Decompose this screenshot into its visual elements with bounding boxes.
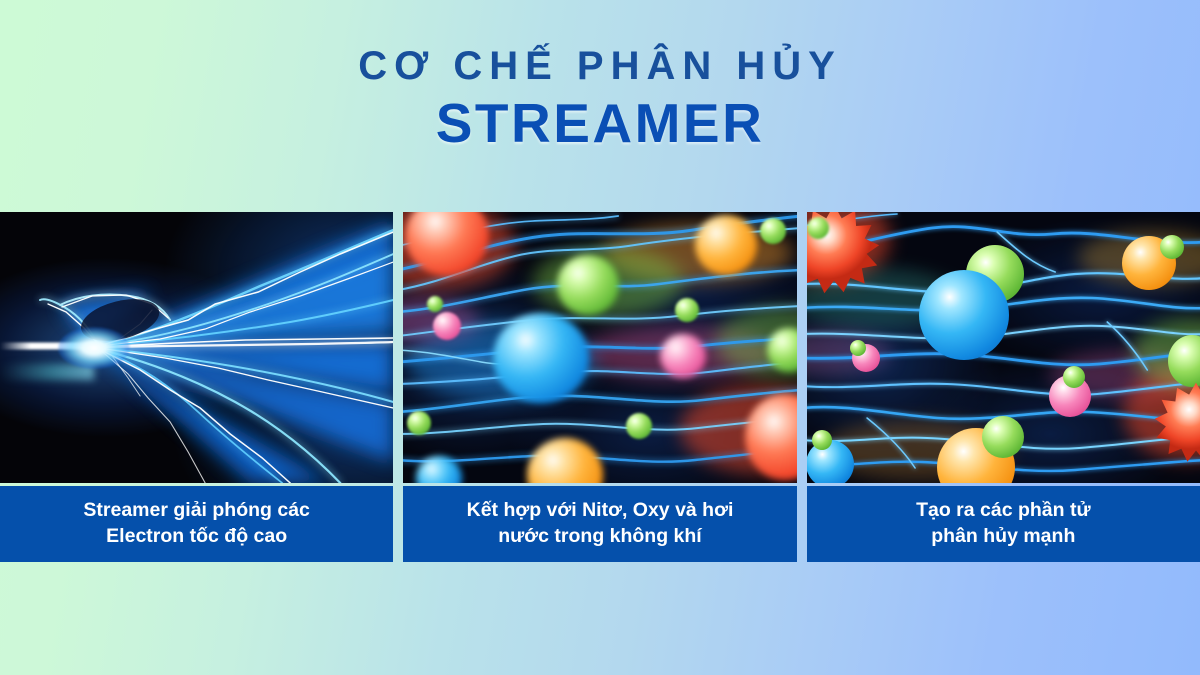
panel-2-image: [403, 212, 796, 483]
panel-1-caption-line-1: Streamer giải phóng các: [83, 498, 310, 524]
molecule-cyan-large: [919, 270, 1009, 360]
panel-2: Kết hợp với Nitơ, Oxy và hơi nước trong …: [403, 212, 796, 562]
molecule-cyan-bottom: [807, 440, 855, 483]
molecule-red-bottom: [745, 394, 797, 480]
molecule-cyan-large: [493, 313, 589, 403]
panel-3-caption-line-1: Tạo ra các phần tử: [916, 498, 1091, 524]
panel-1-caption: Streamer giải phóng các Electron tốc độ …: [0, 486, 393, 562]
panel-row: Streamer giải phóng các Electron tốc độ …: [0, 212, 1200, 562]
molecule-red: [405, 212, 489, 276]
title-block: CƠ CHẾ PHÂN HỦY STREAMER: [0, 44, 1200, 153]
panel-1-discharge-core: [58, 327, 130, 369]
molecule-green-small-2: [675, 298, 699, 322]
panel-1-image: [0, 212, 393, 483]
panel-2-caption-line-1: Kết hợp với Nitơ, Oxy và hơi: [467, 498, 734, 524]
molecule-green-tiny-4: [812, 430, 832, 450]
molecule-pink-small: [433, 312, 461, 340]
panel-3: Tạo ra các phần tử phân hủy mạnh: [807, 212, 1200, 562]
infographic-canvas: CƠ CHẾ PHÂN HỦY STREAMER: [0, 0, 1200, 675]
molecule-orange: [695, 215, 757, 275]
molecule-green-tiny: [427, 296, 443, 312]
page-title-line-2: STREAMER: [0, 95, 1200, 153]
panel-2-caption: Kết hợp với Nitơ, Oxy và hơi nước trong …: [403, 486, 796, 562]
panel-3-caption: Tạo ra các phần tử phân hủy mạnh: [807, 486, 1200, 562]
molecule-orange-bottom: [527, 438, 603, 483]
panel-1: Streamer giải phóng các Electron tốc độ …: [0, 212, 393, 562]
molecule-green-tiny-3: [1063, 366, 1085, 388]
molecule-green-right: [1168, 335, 1200, 387]
molecule-green-tiny: [807, 217, 829, 239]
page-title-line-1: CƠ CHẾ PHÂN HỦY: [0, 44, 1200, 89]
molecule-green: [557, 255, 619, 315]
molecule-green-small-3: [626, 413, 652, 439]
panel-2-molecule-layer: [403, 212, 796, 483]
molecule-green-small: [1160, 235, 1184, 259]
molecule-cyan-bottom: [416, 456, 462, 483]
molecule-pink: [660, 334, 706, 378]
molecule-red-burst-2: [1153, 380, 1200, 466]
molecule-green-small: [760, 218, 786, 244]
panel-3-image: [807, 212, 1200, 483]
panel-1-caption-line-2: Electron tốc độ cao: [83, 524, 310, 550]
panel-3-molecule-layer: [807, 212, 1200, 483]
molecule-green-right: [767, 328, 797, 372]
panel-2-caption-line-2: nước trong không khí: [467, 524, 734, 550]
molecule-green-small-4: [407, 411, 431, 435]
panel-3-caption-line-2: phân hủy mạnh: [916, 524, 1091, 550]
molecule-green-tiny-2: [850, 340, 866, 356]
molecule-green-bottom: [982, 416, 1024, 458]
